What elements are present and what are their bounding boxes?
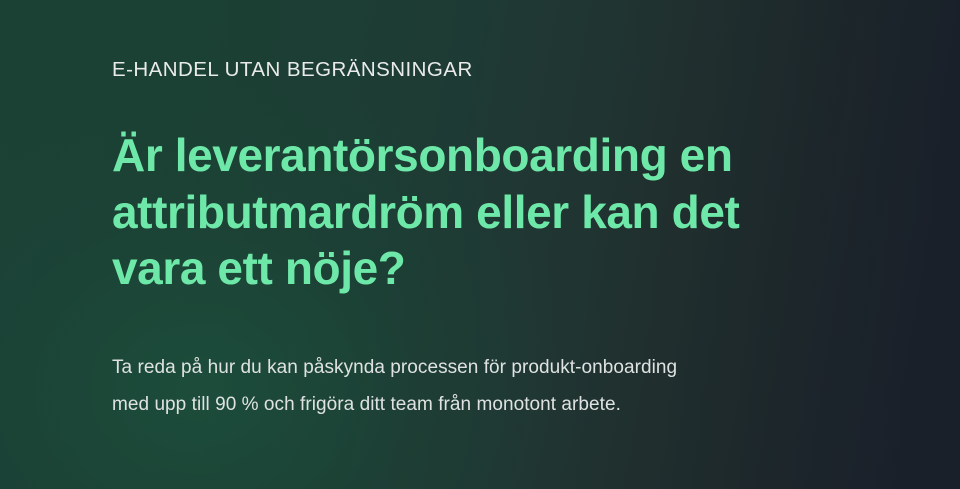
hero-content: E-HANDEL UTAN BEGRÄNSNINGAR Är leverantö…: [0, 57, 960, 423]
eyebrow-label: E-HANDEL UTAN BEGRÄNSNINGAR: [112, 57, 848, 83]
headline-line-3: vara ett nöje?: [112, 240, 832, 297]
headline-line-2: attributmardröm eller kan det: [112, 184, 832, 241]
body-line-2: med upp till 90 % och frigöra ditt team …: [112, 386, 848, 423]
body-copy: Ta reda på hur du kan påskynda processen…: [112, 349, 848, 423]
hero-slide: E-HANDEL UTAN BEGRÄNSNINGAR Är leverantö…: [0, 0, 960, 489]
body-line-1: Ta reda på hur du kan påskynda processen…: [112, 349, 848, 386]
page-title: Är leverantörsonboarding en attributmard…: [112, 127, 832, 297]
headline-line-1: Är leverantörsonboarding en: [112, 127, 832, 184]
